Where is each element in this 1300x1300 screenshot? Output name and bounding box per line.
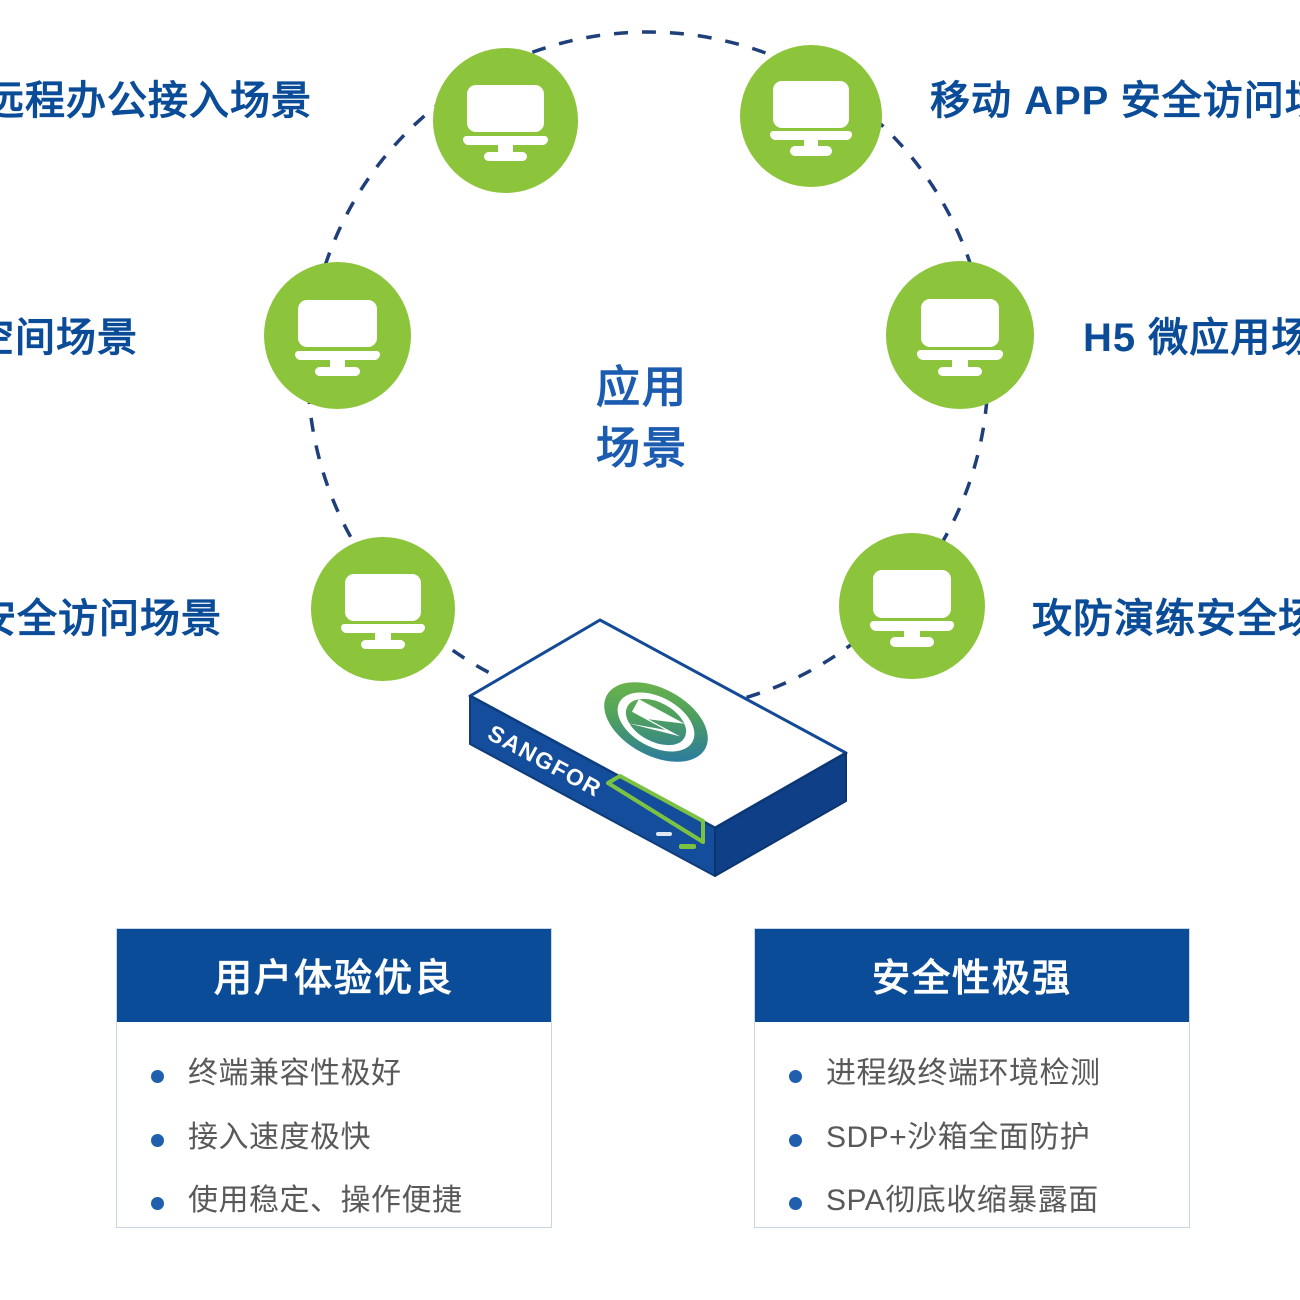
label-node-bottom-left: 安全访问场景 xyxy=(0,597,222,641)
monitor-base xyxy=(938,367,983,376)
monitor-base xyxy=(890,637,934,646)
monitor-screen xyxy=(298,300,376,348)
label-node-top-left: 远程办公接入场景 xyxy=(0,79,312,123)
monitor-icon xyxy=(917,292,1003,378)
monitor-base xyxy=(315,367,359,376)
monitor-bar xyxy=(463,136,547,145)
bullet-icon xyxy=(789,1070,802,1083)
node-middle-right[interactable] xyxy=(886,261,1034,409)
list-item: 接入速度极快 xyxy=(117,1106,551,1170)
bullet-icon xyxy=(151,1134,164,1147)
feature-box-security: 安全性极强 进程级终端环境检测 SDP+沙箱全面防护 SPA彻底收缩暴露面 xyxy=(754,928,1190,1228)
monitor-icon xyxy=(870,564,955,649)
monitor-bar xyxy=(770,131,852,140)
list-item: 进程级终端环境检测 xyxy=(755,1042,1189,1106)
node-top-left[interactable] xyxy=(433,48,578,193)
list-item-label: SPA彻底收缩暴露面 xyxy=(826,1182,1189,1220)
monitor-base xyxy=(361,640,404,649)
appliance-led-2 xyxy=(679,844,696,849)
center-caption-line2: 场景 xyxy=(596,419,746,480)
node-middle-left[interactable] xyxy=(264,262,411,409)
monitor-screen xyxy=(921,299,1000,347)
node-bottom-right[interactable] xyxy=(839,533,985,679)
monitor-bar xyxy=(870,621,955,630)
feature-box-title: 安全性极强 xyxy=(755,929,1189,1022)
label-node-middle-left: 办公空间场景 xyxy=(0,316,138,360)
monitor-bar xyxy=(295,351,380,360)
center-caption: 应用 场景 xyxy=(596,358,746,479)
center-caption-line1: 应用 xyxy=(596,358,746,419)
monitor-screen xyxy=(773,81,849,127)
feature-box-body: 进程级终端环境检测 SDP+沙箱全面防护 SPA彻底收缩暴露面 xyxy=(755,1022,1189,1251)
monitor-screen xyxy=(873,570,951,617)
diagram-canvas: 远程办公接入场景 移动 APP 安全访问场景 办公空间场景 H5 微应用场景 安… xyxy=(0,0,1300,1300)
list-item-label: SDP+沙箱全面防护 xyxy=(826,1119,1189,1157)
sangfor-appliance: SANGFOR xyxy=(460,610,860,900)
list-item-label: 进程级终端环境检测 xyxy=(826,1055,1189,1093)
list-item: SDP+沙箱全面防护 xyxy=(755,1106,1189,1170)
feature-box-user-experience: 用户体验优良 终端兼容性极好 接入速度极快 使用稳定、操作便捷 xyxy=(116,928,552,1228)
monitor-icon xyxy=(463,78,547,162)
feature-box-body: 终端兼容性极好 接入速度极快 使用稳定、操作便捷 xyxy=(117,1022,551,1251)
monitor-screen xyxy=(467,85,544,132)
monitor-bar xyxy=(917,350,1003,359)
bullet-icon xyxy=(789,1134,802,1147)
monitor-base xyxy=(484,152,528,161)
monitor-screen xyxy=(345,574,422,621)
list-item: 终端兼容性极好 xyxy=(117,1042,551,1106)
bullet-icon xyxy=(151,1070,164,1083)
list-item-label: 终端兼容性极好 xyxy=(188,1055,551,1093)
list-item: 使用稳定、操作便捷 xyxy=(117,1169,551,1233)
monitor-base xyxy=(790,146,833,155)
monitor-bar xyxy=(341,624,425,633)
node-bottom-left[interactable] xyxy=(311,537,455,681)
list-item-label: 接入速度极快 xyxy=(188,1119,551,1157)
appliance-led-1 xyxy=(656,832,672,836)
feature-box-title: 用户体验优良 xyxy=(117,929,551,1022)
list-item: SPA彻底收缩暴露面 xyxy=(755,1169,1189,1233)
node-top-right[interactable] xyxy=(740,45,882,187)
monitor-icon xyxy=(295,293,380,378)
bullet-icon xyxy=(789,1197,802,1210)
label-node-middle-right: H5 微应用场景 xyxy=(1083,316,1300,360)
label-node-top-right: 移动 APP 安全访问场景 xyxy=(930,79,1300,123)
bullet-icon xyxy=(151,1197,164,1210)
monitor-icon xyxy=(770,75,852,157)
monitor-icon xyxy=(341,567,425,651)
label-node-bottom-right: 攻防演练安全场景 xyxy=(1032,597,1300,641)
list-item-label: 使用稳定、操作便捷 xyxy=(188,1182,551,1220)
